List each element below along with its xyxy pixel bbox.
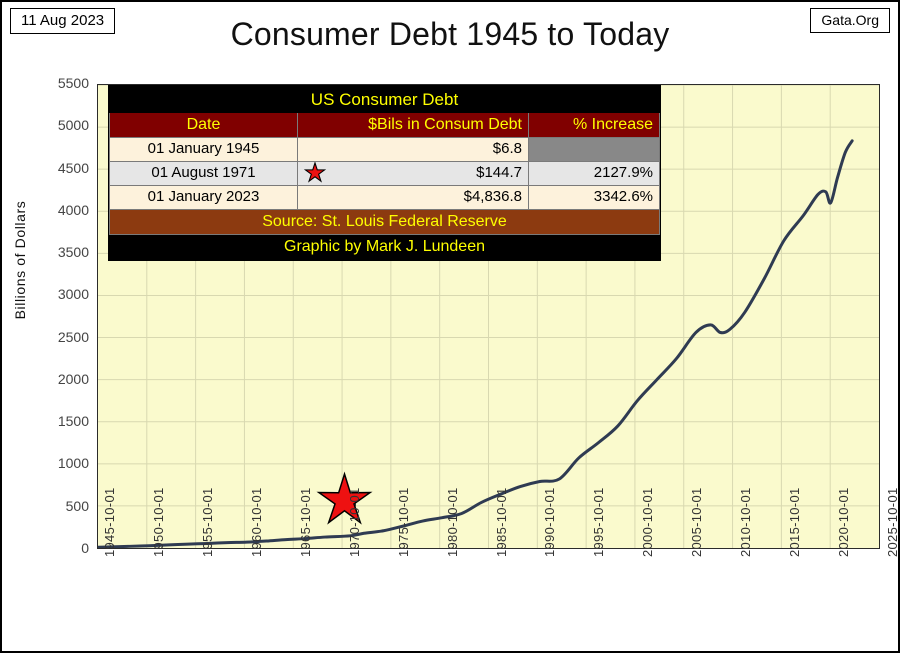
column-header-pct: % Increase (529, 113, 660, 138)
cell-amount-value: $6.8 (493, 140, 522, 157)
x-tick-label: 1945-10-01 (102, 488, 117, 558)
cell-amount: $6.8 (298, 138, 529, 162)
chart-page: 11 Aug 2023 Gata.Org Consumer Debt 1945 … (0, 0, 900, 653)
y-tick-label: 3000 (29, 287, 89, 301)
x-tick-label: 2015-10-01 (787, 488, 802, 558)
star-marker-icon (319, 474, 370, 523)
cell-amount-value: $4,836.8 (464, 188, 522, 205)
y-tick-label: 5500 (29, 76, 89, 90)
x-tick-label: 1975-10-01 (396, 488, 411, 558)
x-tick-label: 2025-10-01 (885, 488, 900, 558)
x-tick-label: 2020-10-01 (836, 488, 851, 558)
y-tick-label: 4500 (29, 161, 89, 175)
table-credit-row: Graphic by Mark J. Lundeen (110, 234, 660, 259)
x-tick-label: 1960-10-01 (249, 488, 264, 558)
table-title-row: US Consumer Debt (110, 87, 660, 113)
table-credit: Graphic by Mark J. Lundeen (110, 234, 660, 259)
table-row: 01 August 1971$144.72127.9% (110, 162, 660, 186)
table-body: 01 January 1945$6.801 August 1971$144.72… (110, 138, 660, 209)
x-tick-label: 1950-10-01 (151, 488, 166, 558)
table-source-row: Source: St. Louis Federal Reserve (110, 209, 660, 234)
table-title: US Consumer Debt (110, 87, 660, 113)
cell-percent (529, 138, 660, 162)
x-tick-label: 1980-10-01 (445, 488, 460, 558)
cell-date: 01 January 2023 (110, 185, 298, 209)
table-source: Source: St. Louis Federal Reserve (110, 209, 660, 234)
table-row: 01 January 2023$4,836.83342.6% (110, 185, 660, 209)
column-header-amount: $Bils in Consum Debt (298, 113, 529, 138)
y-tick-label: 2500 (29, 330, 89, 344)
cell-date: 01 August 1971 (110, 162, 298, 186)
y-tick-label: 1000 (29, 456, 89, 470)
y-tick-label: 1500 (29, 414, 89, 428)
x-tick-label: 2010-10-01 (738, 488, 753, 558)
x-tick-label: 2005-10-01 (689, 488, 704, 558)
cell-amount-value: $144.7 (476, 164, 522, 181)
table-header-row: Date $Bils in Consum Debt % Increase (110, 113, 660, 138)
cell-date: 01 January 1945 (110, 138, 298, 162)
x-tick-label: 1995-10-01 (591, 488, 606, 558)
x-tick-label: 1955-10-01 (200, 488, 215, 558)
consumer-debt-table: US Consumer Debt Date $Bils in Consum De… (109, 86, 660, 260)
y-tick-label: 2000 (29, 372, 89, 386)
star-icon (319, 474, 370, 523)
table-row: 01 January 1945$6.8 (110, 138, 660, 162)
cell-percent: 2127.9% (529, 162, 660, 186)
y-tick-label: 5000 (29, 118, 89, 132)
cell-amount: $144.7 (298, 162, 529, 186)
cell-percent: 3342.6% (529, 185, 660, 209)
y-tick-label: 0 (29, 541, 89, 555)
column-header-date: Date (110, 113, 298, 138)
y-tick-label: 3500 (29, 245, 89, 259)
star-icon (304, 162, 326, 184)
x-tick-label: 1990-10-01 (542, 488, 557, 558)
y-tick-label: 500 (29, 499, 89, 513)
y-tick-label: 4000 (29, 203, 89, 217)
x-tick-label: 1970-10-01 (347, 488, 362, 558)
x-tick-label: 2000-10-01 (640, 488, 655, 558)
x-tick-label: 1985-10-01 (494, 488, 509, 558)
cell-amount: $4,836.8 (298, 185, 529, 209)
x-tick-label: 1965-10-01 (298, 488, 313, 558)
